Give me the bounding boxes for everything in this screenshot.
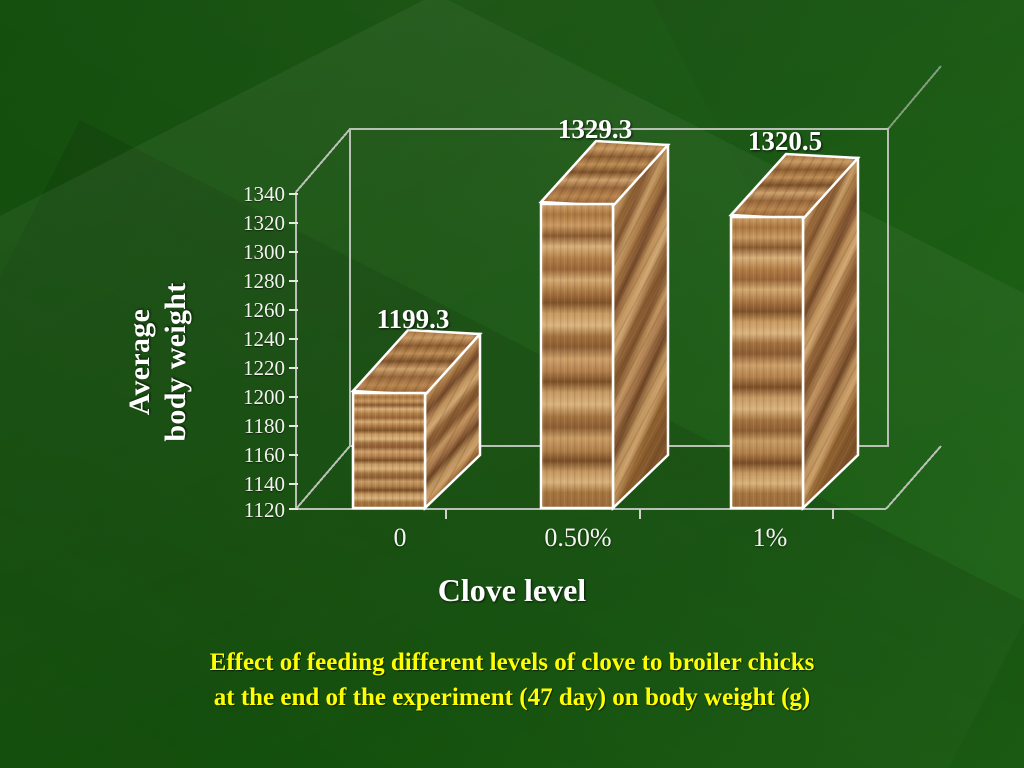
bar-value-label-0: 1199.3: [338, 306, 488, 333]
bar-1[interactable]: [541, 141, 668, 508]
bar-0[interactable]: [353, 330, 480, 508]
y-tick-label-1120: 1120: [180, 500, 285, 521]
caption-line-1: Effect of feeding different levels of cl…: [0, 645, 1024, 680]
slide-caption: Effect of feeding different levels of cl…: [0, 645, 1024, 715]
slide-background: 1340 1320 1300 1280 1260 1240 1220 1200 …: [0, 0, 1024, 768]
bar-value-label-1: 1329.3: [520, 116, 670, 143]
y-axis-title: body weight Average: [96, 222, 220, 502]
y-tick-label-1340: 1340: [180, 184, 285, 205]
bar-2[interactable]: [731, 154, 858, 508]
x-category-label-2: 1%: [700, 525, 840, 551]
x-category-label-1: 0.50%: [508, 525, 648, 551]
x-axis-ticks: [446, 509, 833, 519]
y-axis-title-line-1: Average: [123, 309, 157, 416]
bar-value-label-2: 1320.5: [710, 128, 860, 155]
caption-line-2: at the end of the experiment (47 day) on…: [0, 680, 1024, 715]
x-category-label-0: 0: [330, 525, 470, 551]
bar-chart: 1340 1320 1300 1280 1260 1240 1220 1200 …: [0, 0, 1024, 768]
x-axis-title: Clove level: [0, 572, 1024, 609]
y-axis-title-line-2: body weight: [159, 282, 193, 441]
